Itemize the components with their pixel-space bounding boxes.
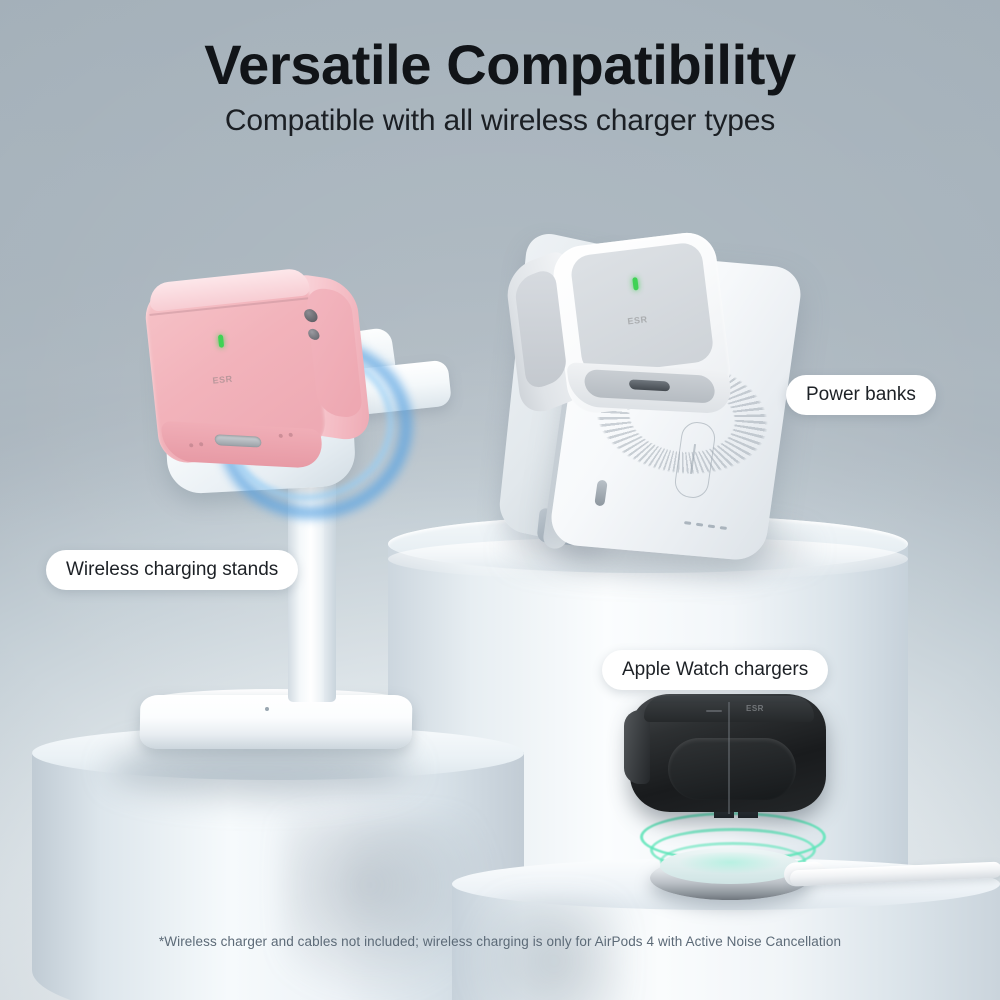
airpods-case-white: ESR <box>549 216 781 430</box>
footnote-disclaimer: *Wireless charger and cables not include… <box>0 934 1000 949</box>
callout-power-banks: Power banks <box>786 375 936 415</box>
stand-base <box>140 695 413 749</box>
airpods-case-pink: ESR <box>142 261 392 484</box>
airpods-case-black: ESR <box>618 694 834 826</box>
callout-apple-watch-chargers: Apple Watch chargers <box>602 650 828 690</box>
product-marketing-image: ESR ESR <box>0 0 1000 1000</box>
usb-c-port <box>629 379 671 391</box>
page-title: Versatile Compatibility <box>0 36 1000 95</box>
esr-logo: ESR <box>212 374 233 386</box>
esr-logo: ESR <box>746 704 764 713</box>
page-subtitle: Compatible with all wireless charger typ… <box>0 104 1000 138</box>
stand-indicator-dot <box>265 707 269 711</box>
callout-wireless-charging-stands: Wireless charging stands <box>46 550 298 590</box>
